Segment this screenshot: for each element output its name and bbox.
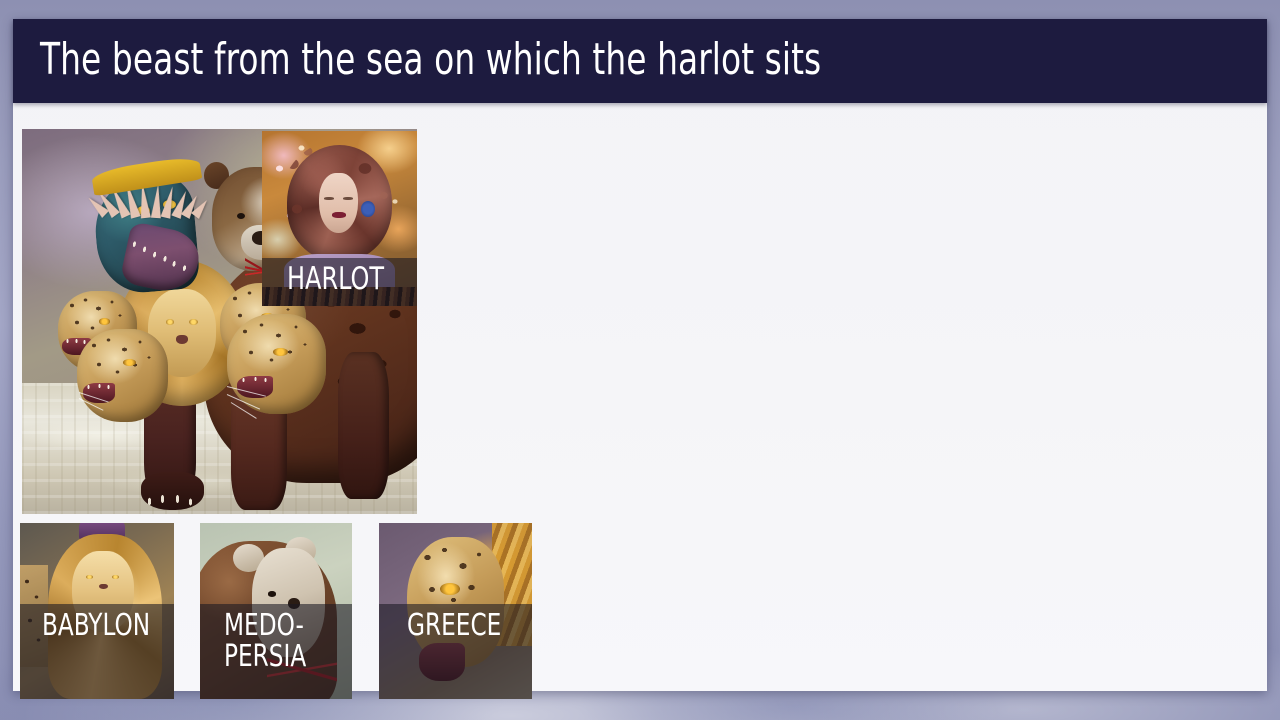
slide: The beast from the sea on which the harl…: [13, 19, 1267, 691]
thumbnail-babylon[interactable]: BABYLON: [20, 523, 174, 699]
lion-nose: [176, 335, 188, 344]
harlot-caption: HARLOT: [262, 258, 417, 306]
harlot-eye-right: [343, 197, 353, 200]
harlot-image[interactable]: HARLOT: [262, 131, 417, 306]
medo-persia-bear-eye: [268, 591, 277, 596]
leopard-eye: [99, 318, 111, 324]
greece-caption: GREECE: [379, 604, 532, 699]
bear-eye-left: [237, 213, 245, 219]
beast-paw: [141, 472, 204, 511]
dragon-head: [89, 144, 208, 298]
page-title: The beast from the sea on which the harl…: [40, 38, 981, 82]
flower-icon: [361, 201, 375, 217]
harlot-lips: [332, 212, 346, 218]
lion-eye-right: [189, 319, 198, 325]
leopard-mouth: [237, 376, 273, 398]
leopard-skull: [227, 314, 326, 414]
babylon-lion-eye-left: [86, 575, 93, 579]
greece-leopard-eye: [440, 583, 460, 595]
presentation-background: The beast from the sea on which the harl…: [0, 0, 1280, 720]
babylon-caption-text: BABYLON: [42, 610, 150, 641]
leopard-eye: [273, 348, 288, 356]
harlot-eye-left: [324, 197, 334, 200]
babylon-lion-eye-right: [112, 575, 119, 579]
harlot-face: [319, 173, 358, 233]
medo-persia-caption: MEDO-PERSIA: [200, 604, 352, 699]
leopard-mouth: [83, 383, 116, 403]
harlot-caption-text: HARLOT: [287, 262, 384, 296]
leopard-skull: [77, 329, 168, 421]
leopard-head-lower-left: [77, 329, 168, 421]
page-title-text: The beast from the sea on which the harl…: [40, 38, 821, 82]
slide-body: HARLOT BABYLON: [13, 103, 1267, 691]
beast-hind-leg: [338, 352, 389, 498]
medo-persia-caption-text: MEDO-PERSIA: [224, 610, 334, 672]
lion-eye-left: [166, 319, 175, 325]
babylon-caption: BABYLON: [20, 604, 174, 699]
thumbnail-greece[interactable]: GREECE: [379, 523, 532, 699]
babylon-lion-nose: [99, 584, 108, 590]
leopard-head-lower-right: [227, 314, 326, 414]
thumbnail-medo-persia[interactable]: MEDO-PERSIA: [200, 523, 352, 699]
greece-caption-text: GREECE: [407, 610, 501, 641]
title-banner: The beast from the sea on which the harl…: [13, 19, 1267, 103]
